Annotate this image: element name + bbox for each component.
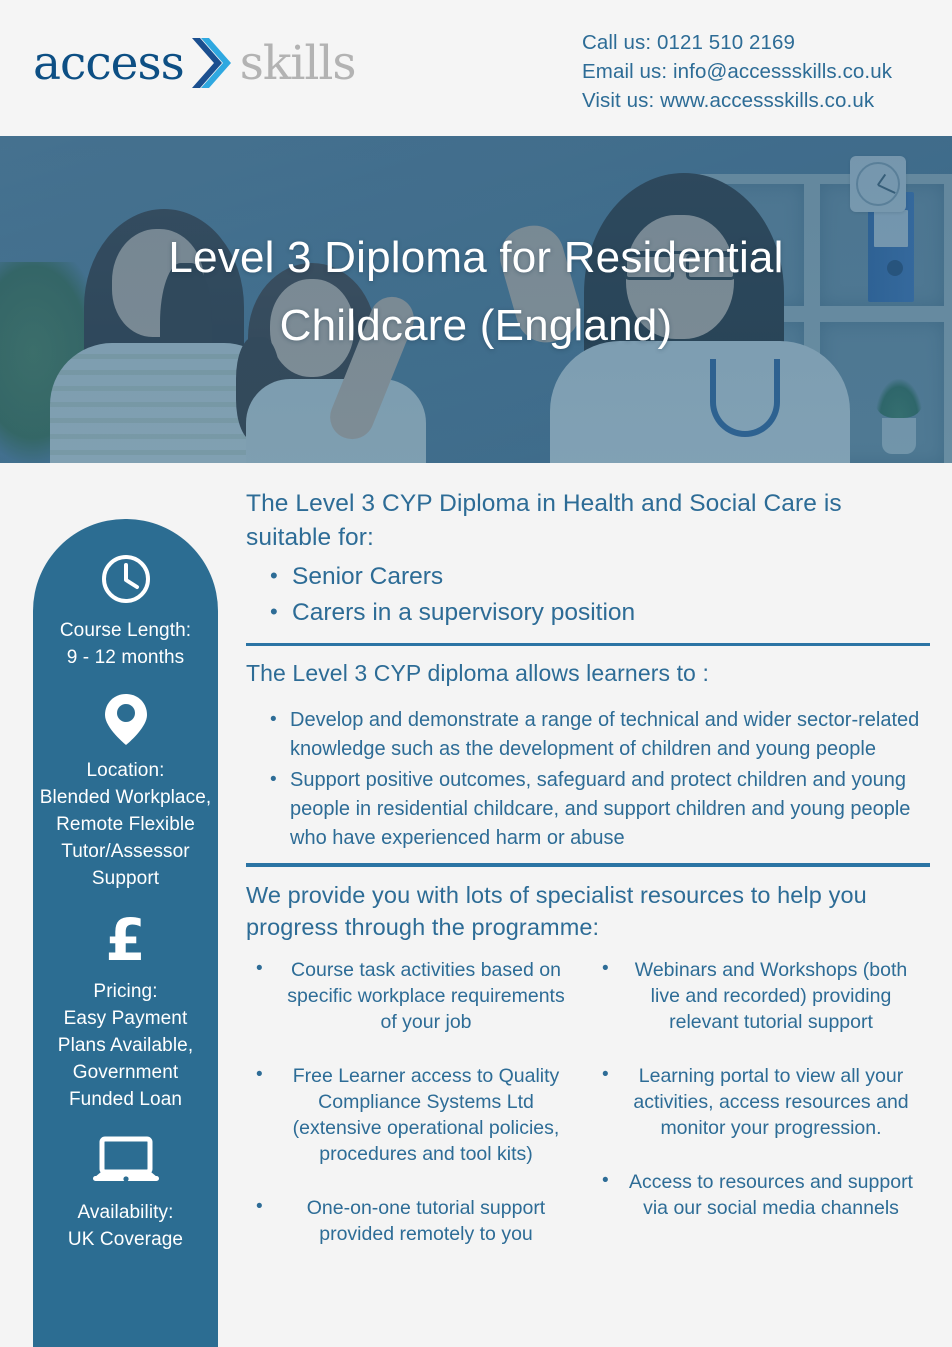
logo-text-access: access bbox=[33, 40, 184, 87]
list-item: Carers in a supervisory position bbox=[246, 595, 930, 631]
laptop-icon bbox=[33, 1133, 218, 1189]
contact-website[interactable]: Visit us: www.accessskills.co.uk bbox=[582, 86, 892, 115]
suitable-for-list: Senior Carers Carers in a supervisory po… bbox=[246, 559, 930, 631]
hero-title: Level 3 Diploma for Residential Childcar… bbox=[0, 224, 952, 360]
divider-1 bbox=[246, 643, 930, 646]
sidebar-block-availability: Availability: UK Coverage bbox=[33, 1133, 218, 1253]
contact-phone[interactable]: Call us: 0121 510 2169 bbox=[582, 28, 892, 57]
list-item: Senior Carers bbox=[246, 559, 930, 595]
pound-icon: £ bbox=[33, 912, 218, 968]
page-header: access skills Call us: 0121 510 2169 Ema… bbox=[0, 0, 952, 136]
sidebar-course-length-value: 9 - 12 months bbox=[33, 644, 218, 671]
resources-heading: We provide you with lots of specialist r… bbox=[246, 879, 930, 943]
list-item: Free Learner access to Quality Complianc… bbox=[246, 1063, 580, 1167]
list-item: Access to resources and support via our … bbox=[592, 1169, 926, 1221]
sidebar-pricing-label: Pricing: bbox=[33, 978, 218, 1005]
course-facts-sidebar: Course Length: 9 - 12 months Location: B… bbox=[33, 519, 218, 1347]
page-content: Course Length: 9 - 12 months Location: B… bbox=[0, 463, 952, 1347]
resources-column-left: Course task activities based on specific… bbox=[246, 957, 580, 1275]
sidebar-block-pricing: £ Pricing: Easy Payment Plans Available,… bbox=[33, 912, 218, 1113]
list-item: Learning portal to view all your activit… bbox=[592, 1063, 926, 1141]
sidebar-availability-label: Availability: bbox=[33, 1199, 218, 1226]
hero-banner: Level 3 Diploma for Residential Childcar… bbox=[0, 136, 952, 463]
allows-learners-heading: The Level 3 CYP diploma allows learners … bbox=[246, 656, 930, 690]
chevron-right-icon bbox=[188, 36, 234, 90]
sidebar-availability-value: UK Coverage bbox=[33, 1226, 218, 1253]
sidebar-block-course-length: Course Length: 9 - 12 months bbox=[33, 551, 218, 671]
list-item: Develop and demonstrate a range of techn… bbox=[246, 706, 930, 764]
contact-info: Call us: 0121 510 2169 Email us: info@ac… bbox=[582, 28, 892, 115]
suitable-for-heading: The Level 3 CYP Diploma in Health and So… bbox=[246, 487, 930, 555]
list-item: Support positive outcomes, safeguard and… bbox=[246, 766, 930, 853]
list-item: One-on-one tutorial support provided rem… bbox=[246, 1195, 580, 1247]
divider-2 bbox=[246, 863, 930, 867]
brand-logo[interactable]: access skills bbox=[33, 36, 356, 90]
contact-email[interactable]: Email us: info@accessskills.co.uk bbox=[582, 57, 892, 86]
sidebar-pricing-value: Easy Payment Plans Available, Government… bbox=[33, 1005, 218, 1113]
logo-text-skills: skills bbox=[240, 40, 356, 87]
allows-learners-list: Develop and demonstrate a range of techn… bbox=[246, 706, 930, 853]
list-item: Course task activities based on specific… bbox=[246, 957, 580, 1035]
sidebar-course-length-label: Course Length: bbox=[33, 617, 218, 644]
sidebar-location-value: Blended Workplace, Remote Flexible Tutor… bbox=[33, 784, 218, 892]
resources-column-right: Webinars and Workshops (both live and re… bbox=[592, 957, 926, 1275]
sidebar-block-location: Location: Blended Workplace, Remote Flex… bbox=[33, 691, 218, 892]
location-pin-icon bbox=[33, 691, 218, 747]
sidebar-location-label: Location: bbox=[33, 757, 218, 784]
list-item: Webinars and Workshops (both live and re… bbox=[592, 957, 926, 1035]
main-column: The Level 3 CYP Diploma in Health and So… bbox=[246, 463, 930, 1275]
resources-columns: Course task activities based on specific… bbox=[246, 957, 930, 1275]
clock-icon bbox=[33, 551, 218, 607]
